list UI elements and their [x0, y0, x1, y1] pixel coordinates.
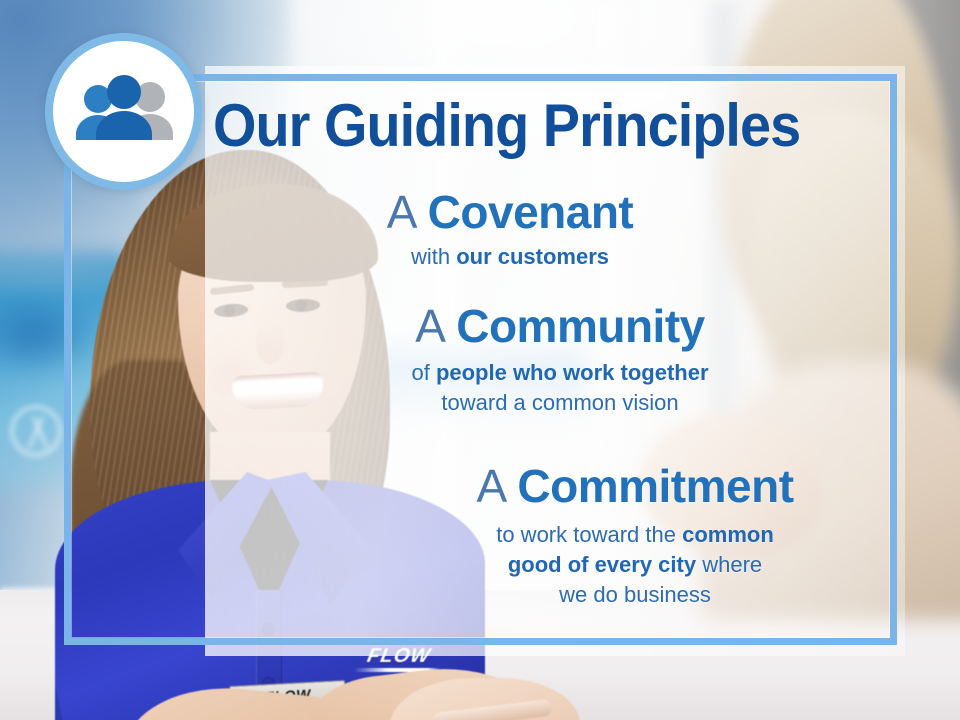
car-emblem [10, 405, 62, 457]
principle-article: A [415, 300, 443, 352]
principle-description: to work toward the commongood of every c… [400, 520, 870, 610]
principle-article: A [387, 186, 415, 238]
principle-text: with [411, 244, 456, 269]
principle-line: of people who work together [330, 358, 790, 388]
principle-heading: A Community [330, 300, 790, 352]
principle-commitment: A Commitment to work toward the commongo… [400, 460, 870, 610]
people-group-icon [53, 41, 194, 182]
principle-word: Commitment [517, 460, 793, 512]
principle-line: toward a common vision [330, 388, 790, 418]
principle-word: Covenant [428, 186, 634, 238]
principle-line: we do business [400, 580, 870, 610]
principle-text: where [696, 552, 762, 577]
principle-line: with our customers [300, 242, 720, 272]
principle-covenant: A Covenant with our customers [300, 186, 720, 272]
principle-community: A Community of people who work togethert… [330, 300, 790, 418]
principle-text: to work toward the [496, 522, 682, 547]
principle-emphasis: common [682, 522, 774, 547]
page-title: Our Guiding Principles [213, 95, 827, 157]
principle-emphasis: our customers [456, 244, 609, 269]
principle-emphasis: good of every city [508, 552, 696, 577]
principle-text: of [411, 360, 435, 385]
people-badge [45, 33, 202, 190]
principle-emphasis: people who work together [436, 360, 709, 385]
principle-text: we do business [559, 582, 711, 607]
principle-word: Community [456, 300, 705, 352]
guiding-principles-graphic: FLOW FLOW AUTOMOTIVE [0, 0, 960, 720]
principle-article: A [476, 460, 504, 512]
principle-text: toward a common vision [441, 390, 678, 415]
principle-description: of people who work togethertoward a comm… [330, 358, 790, 418]
principle-heading: A Covenant [300, 186, 720, 238]
principle-heading: A Commitment [400, 460, 870, 512]
principle-line: good of every city where [400, 550, 870, 580]
principle-description: with our customers [300, 242, 720, 272]
principle-line: to work toward the common [400, 520, 870, 550]
